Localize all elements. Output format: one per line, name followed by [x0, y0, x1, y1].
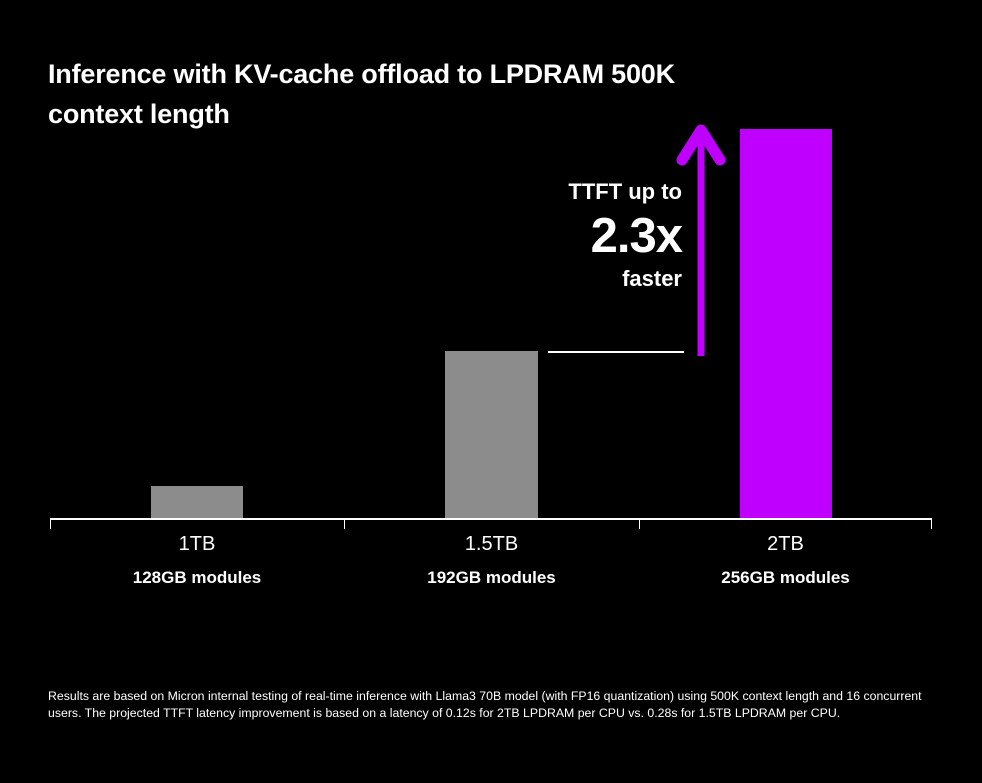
x-axis-line	[50, 518, 932, 520]
bar-1tb	[151, 486, 243, 519]
bar-2tb	[740, 129, 832, 519]
up-arrow-icon	[676, 120, 728, 360]
x-axis-tick-2	[639, 520, 640, 529]
bar-chart: TTFT up to 2.3x faster 1TB 128GB modules…	[0, 0, 982, 783]
reference-line	[548, 351, 684, 353]
x-sublabel-2: 256GB modules	[639, 567, 932, 589]
x-axis-tick-0	[50, 520, 51, 529]
x-tick-label-1: 1.5TB	[344, 532, 639, 556]
x-axis-tick-1	[344, 520, 345, 529]
x-axis-label-group-2: 2TB 256GB modules	[639, 532, 932, 589]
callout-annotation: TTFT up to 2.3x faster	[420, 178, 682, 292]
bar-1-5tb	[445, 351, 538, 519]
callout-lead: TTFT up to	[420, 178, 682, 206]
slide-root: Inference with KV-cache offload to LPDRA…	[0, 0, 982, 783]
callout-value: 2.3x	[420, 208, 682, 264]
callout-tail: faster	[420, 266, 682, 292]
x-tick-label-0: 1TB	[50, 532, 344, 556]
x-sublabel-1: 192GB modules	[344, 567, 639, 589]
x-tick-label-2: 2TB	[639, 532, 932, 556]
x-axis-label-group-0: 1TB 128GB modules	[50, 532, 344, 589]
x-sublabel-0: 128GB modules	[50, 567, 344, 589]
footnote-text: Results are based on Micron internal tes…	[48, 688, 936, 722]
x-axis-tick-3	[931, 520, 932, 529]
x-axis-label-group-1: 1.5TB 192GB modules	[344, 532, 639, 589]
